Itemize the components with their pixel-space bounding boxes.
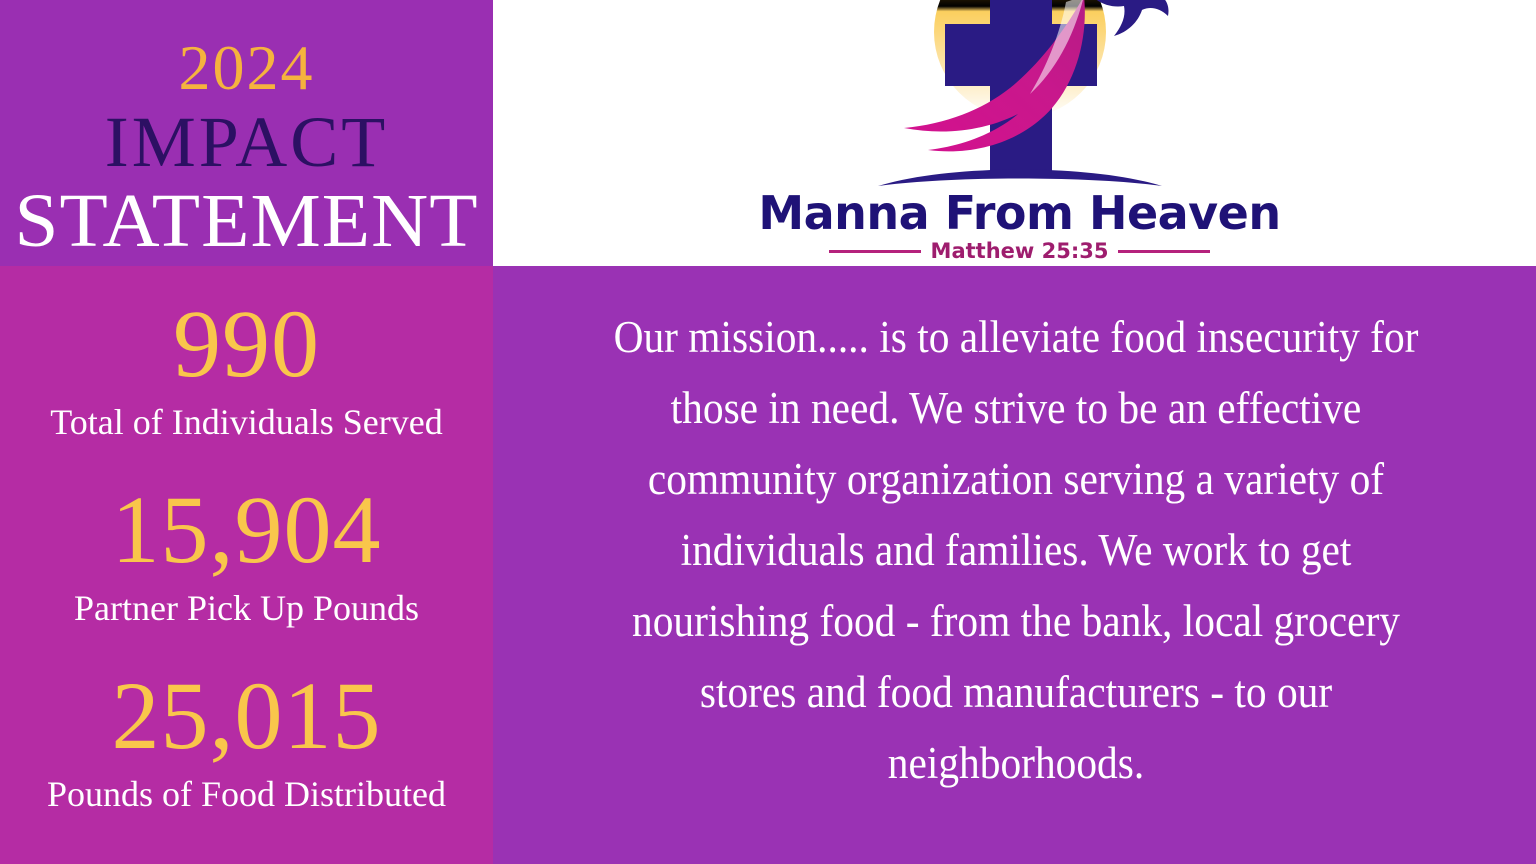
impact-statement-poster: 2024 IMPACT STATEMENT xyxy=(0,0,1536,864)
logo-wordmark: Manna From Heaven xyxy=(740,188,1300,238)
logo-verse-row: Matthew 25:35 xyxy=(740,240,1300,262)
mission-statement-text: Our mission..... is to alleviate food in… xyxy=(588,302,1444,799)
logo-panel: Manna From Heaven Matthew 25:35 xyxy=(493,0,1536,266)
stat-value: 15,904 xyxy=(0,474,493,586)
mission-panel: Our mission..... is to alleviate food in… xyxy=(493,266,1536,864)
logo-verse: Matthew 25:35 xyxy=(931,240,1109,262)
page-title-year: 2024 xyxy=(0,36,493,100)
stat-value: 25,015 xyxy=(0,660,493,772)
stat-label: Partner Pick Up Pounds xyxy=(0,586,493,630)
stat-value: 990 xyxy=(0,288,493,400)
stat-label: Pounds of Food Distributed xyxy=(0,772,493,816)
title-panel: 2024 IMPACT STATEMENT xyxy=(0,0,493,266)
stat-item: 25,015 Pounds of Food Distributed xyxy=(0,660,493,816)
stats-panel: 990 Total of Individuals Served 15,904 P… xyxy=(0,266,493,864)
logo-lockup: Manna From Heaven Matthew 25:35 xyxy=(740,0,1300,266)
verse-rule-left xyxy=(829,250,921,253)
page-title-statement: STATEMENT xyxy=(0,181,493,261)
logo-mark xyxy=(870,0,1170,198)
page-title-impact: IMPACT xyxy=(0,103,493,181)
stat-item: 990 Total of Individuals Served xyxy=(0,288,493,444)
horizon-icon xyxy=(878,170,1162,187)
stat-label: Total of Individuals Served xyxy=(0,400,493,444)
verse-rule-right xyxy=(1118,250,1210,253)
stat-item: 15,904 Partner Pick Up Pounds xyxy=(0,474,493,630)
